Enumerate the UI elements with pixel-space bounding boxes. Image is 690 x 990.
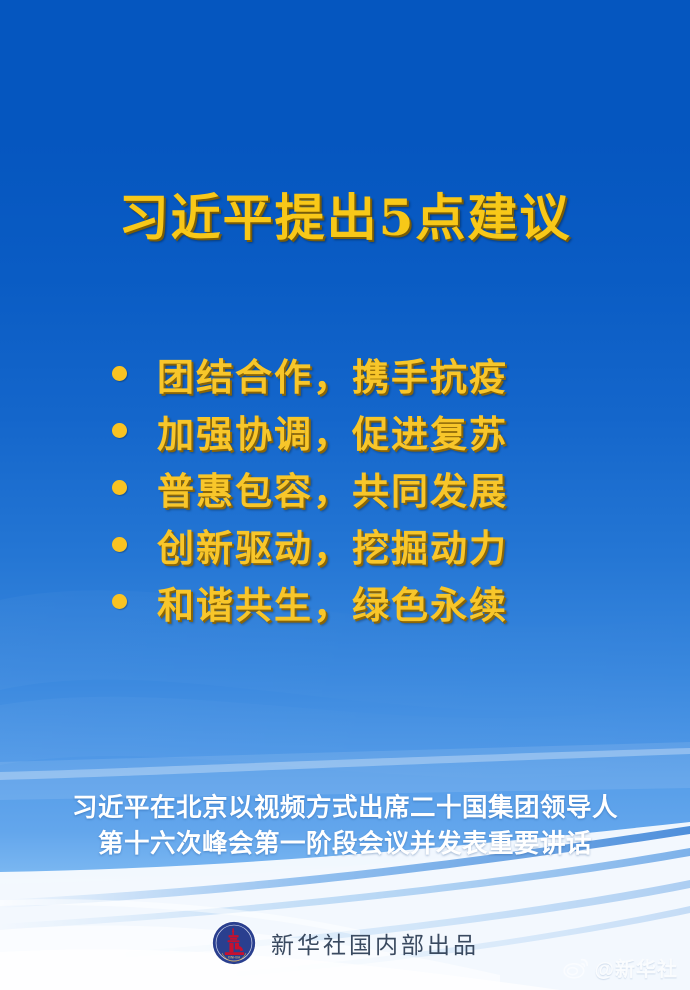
bullet-dot-icon xyxy=(112,480,127,495)
caption-line-2: 第十六次峰会第一阶段会议并发表重要讲话 xyxy=(0,826,690,862)
proposal-text: 和谐共生，绿色永续 xyxy=(157,575,508,629)
svg-text:XINHUA: XINHUA xyxy=(228,956,241,960)
page-title: 习近平提出5点建议 xyxy=(119,178,572,250)
proposal-text: 加强协调，促进复苏 xyxy=(157,404,508,458)
title-container: 习近平提出5点建议 xyxy=(0,178,690,250)
poster-root: 习近平提出5点建议 团结合作，携手抗疫 加强协调，促进复苏 普惠包容，共同发展 … xyxy=(0,0,690,990)
caption: 习近平在北京以视频方式出席二十国集团领导人 第十六次峰会第一阶段会议并发表重要讲… xyxy=(0,790,690,862)
bullet-dot-icon xyxy=(112,366,127,381)
list-item: 和谐共生，绿色永续 xyxy=(0,573,690,630)
weibo-handle: @新华社 xyxy=(594,953,678,982)
bullet-dot-icon xyxy=(112,537,127,552)
bullet-dot-icon xyxy=(112,594,127,609)
xinhua-emblem-icon: XINHUA xyxy=(211,920,257,966)
proposal-text: 创新驱动，挖掘动力 xyxy=(157,518,508,572)
bullet-dot-icon xyxy=(112,423,127,438)
proposal-text: 普惠包容，共同发展 xyxy=(157,461,508,515)
list-item: 普惠包容，共同发展 xyxy=(0,459,690,516)
proposal-text: 团结合作，携手抗疫 xyxy=(157,347,508,401)
caption-line-1: 习近平在北京以视频方式出席二十国集团领导人 xyxy=(0,790,690,826)
weibo-watermark: @新华社 xyxy=(562,953,678,982)
proposal-list: 团结合作，携手抗疫 加强协调，促进复苏 普惠包容，共同发展 创新驱动，挖掘动力 … xyxy=(0,345,690,630)
list-item: 团结合作，携手抗疫 xyxy=(0,345,690,402)
footer-credit-text: 新华社国内部出品 xyxy=(271,926,479,960)
weibo-icon xyxy=(562,956,590,980)
list-item: 创新驱动，挖掘动力 xyxy=(0,516,690,573)
list-item: 加强协调，促进复苏 xyxy=(0,402,690,459)
